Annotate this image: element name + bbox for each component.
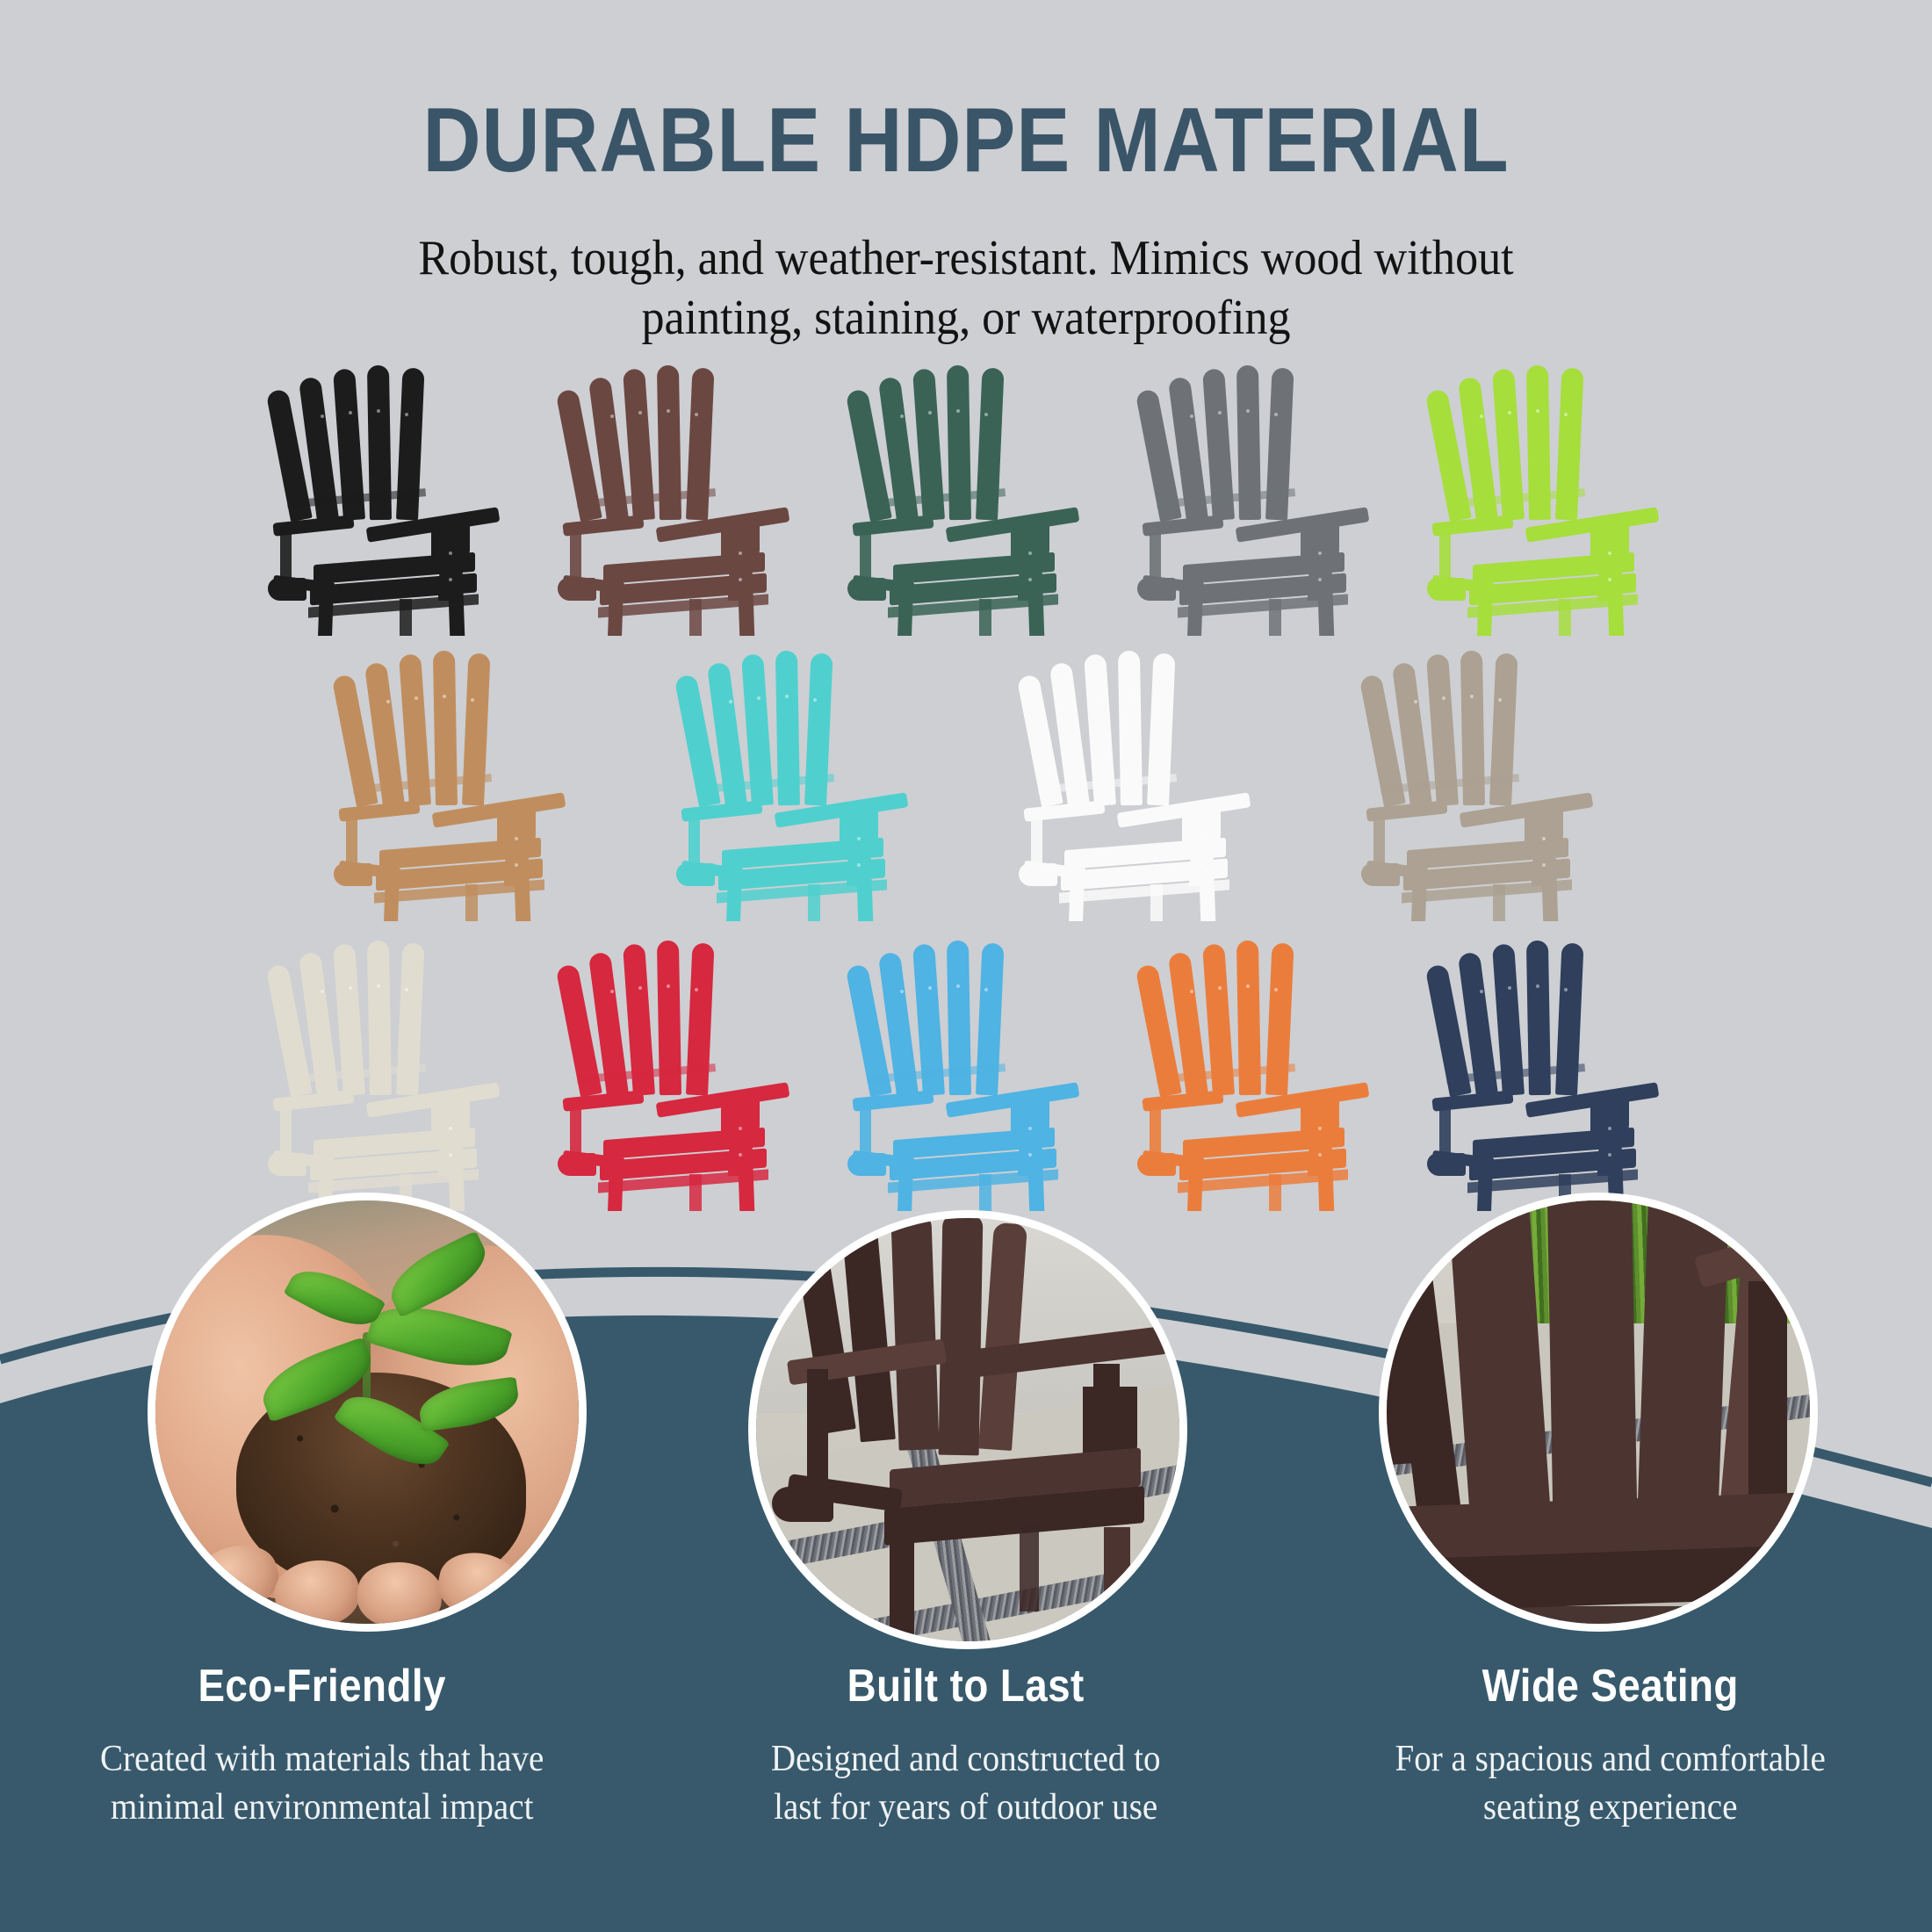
seedling-in-hands-photo [148,1193,587,1632]
chair-cell [281,652,624,942]
feature-desc-line-1: Created with materials that have [100,1739,544,1779]
chair-row-1 [0,367,1932,657]
feature-description: Designed and constructed tolast for year… [667,1735,1265,1831]
chair-black[interactable] [268,372,505,636]
chair-orange[interactable] [1137,948,1374,1211]
chair-cell [1111,942,1401,1232]
subtitle-line-2: painting, staining, or waterproofing [68,288,1864,348]
feature-1: Eco-FriendlyCreated with materials that … [0,1660,644,1831]
feature-description: Created with materials that haveminimal … [23,1735,622,1831]
chair-navy-blue[interactable] [1427,948,1664,1211]
feature-photo-row [0,1193,1932,1649]
chair-gray[interactable] [1137,372,1374,636]
chair-cell [1308,652,1651,942]
chair-weathered-wood[interactable] [1361,658,1598,921]
header-block: DURABLE HDPE MATERIAL Robust, tough, and… [0,0,1932,349]
chair-row-3 [0,942,1932,1232]
chair-cell [821,942,1111,1232]
chair-brown[interactable] [558,372,795,636]
chair-white[interactable] [1019,658,1256,921]
chair-color-grid [0,367,1932,1254]
feature-desc-line-2: seating experience [1483,1787,1738,1827]
chair-dark-green[interactable] [847,372,1085,636]
feature-desc-line-1: Designed and constructed to [771,1739,1161,1779]
chair-backrest-closeup-photo [1379,1193,1818,1632]
chair-cell [1401,367,1690,657]
chair-lime-green[interactable] [1427,372,1664,636]
chair-cell [531,367,821,657]
chair-cell [241,942,531,1232]
feature-desc-line-1: For a spacious and comfortable [1395,1739,1825,1779]
chair-cell [1401,942,1690,1232]
feature-title: Built to Last [682,1660,1249,1712]
chair-turquoise[interactable] [676,658,913,921]
feature-description: For a spacious and comfortableseating ex… [1310,1735,1909,1831]
feature-desc-line-2: last for years of outdoor use [774,1787,1157,1827]
page-subtitle: Robust, tough, and weather-resistant. Mi… [68,228,1864,349]
feature-title: Eco-Friendly [39,1660,605,1712]
page-title: DURABLE HDPE MATERIAL [116,95,1816,186]
feature-text-row: Eco-FriendlyCreated with materials that … [0,1660,1932,1831]
subtitle-line-1: Robust, tough, and weather-resistant. Mi… [68,228,1864,288]
brown-adirondack-chair-photo [748,1210,1187,1649]
chair-teak-tan[interactable] [334,658,571,921]
feature-2: Built to LastDesigned and constructed to… [644,1660,1287,1831]
chair-ivory[interactable] [268,948,505,1211]
chair-cell [241,367,531,657]
chair-cell [624,652,966,942]
chair-cell [821,367,1111,657]
feature-desc-line-2: minimal environmental impact [111,1787,534,1827]
feature-title: Wide Seating [1327,1660,1893,1712]
chair-sky-blue[interactable] [847,948,1085,1211]
feature-3: Wide SeatingFor a spacious and comfortab… [1288,1660,1932,1831]
chair-cell [531,942,821,1232]
chair-red[interactable] [558,948,795,1211]
chair-row-2 [0,652,1932,942]
chair-cell [1111,367,1401,657]
infographic-canvas: DURABLE HDPE MATERIAL Robust, tough, and… [0,0,1932,1932]
chair-cell [966,652,1308,942]
